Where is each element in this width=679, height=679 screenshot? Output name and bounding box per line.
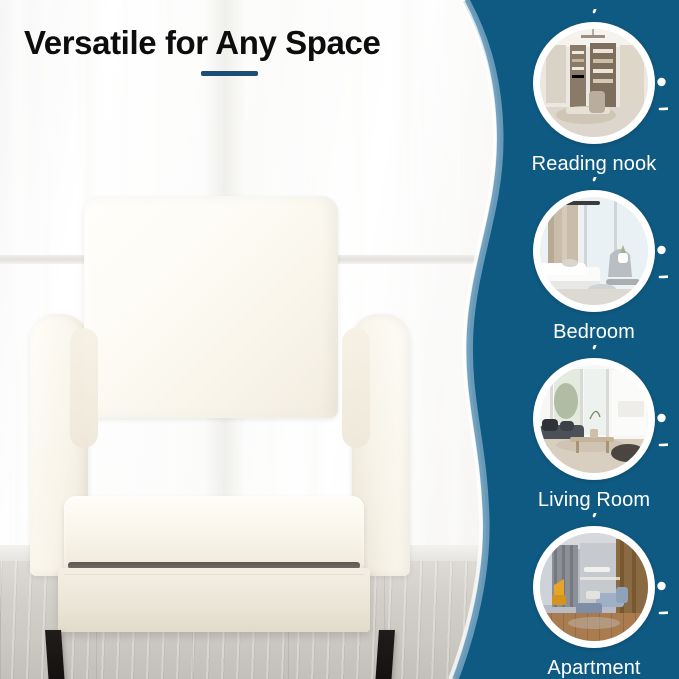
marketing-banner: Versatile for Any Space (0, 0, 679, 679)
living-room-thumbnail (540, 365, 648, 473)
thumbnail-ring (533, 526, 655, 648)
thumbnail-ring (533, 190, 655, 312)
use-case-card-reading-nook[interactable]: Reading nook (509, 22, 679, 175)
reading-nook-thumbnail (540, 29, 648, 137)
use-case-card-bedroom[interactable]: Bedroom (509, 190, 679, 343)
thumbnail-ring (533, 358, 655, 480)
use-case-card-apartment[interactable]: Apartment (509, 526, 679, 679)
thumbnail-ring (533, 22, 655, 144)
apartment-thumbnail (540, 533, 648, 641)
use-case-list: Reading nook (0, 0, 679, 679)
use-case-card-living-room[interactable]: Living Room (509, 358, 679, 511)
bedroom-thumbnail (540, 197, 648, 305)
